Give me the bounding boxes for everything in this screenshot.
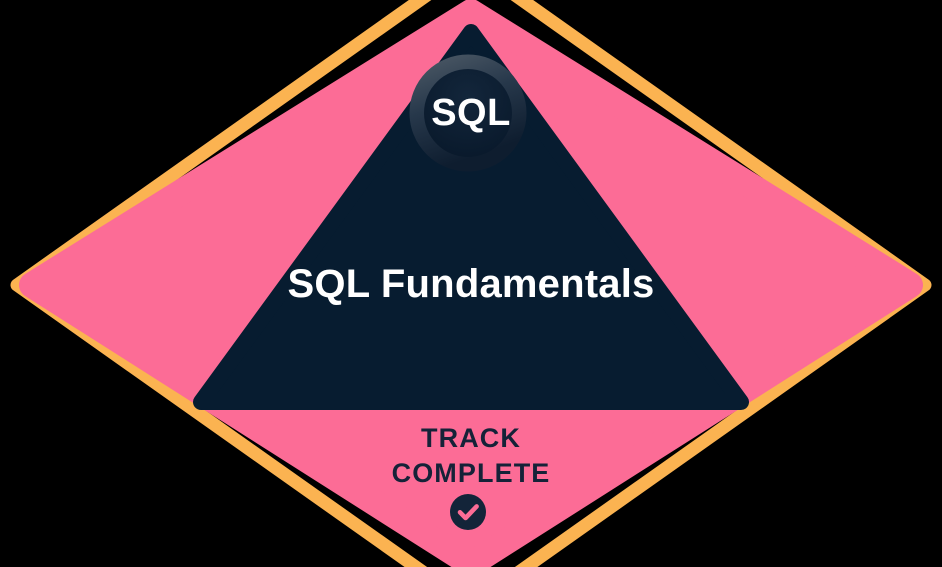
badge-graphic xyxy=(0,0,942,567)
sql-chip-inner-disc xyxy=(424,69,512,157)
completion-check-circle xyxy=(450,494,486,530)
badge-canvas: SQL SQL Fundamentals TRACK COMPLETE xyxy=(0,0,942,567)
